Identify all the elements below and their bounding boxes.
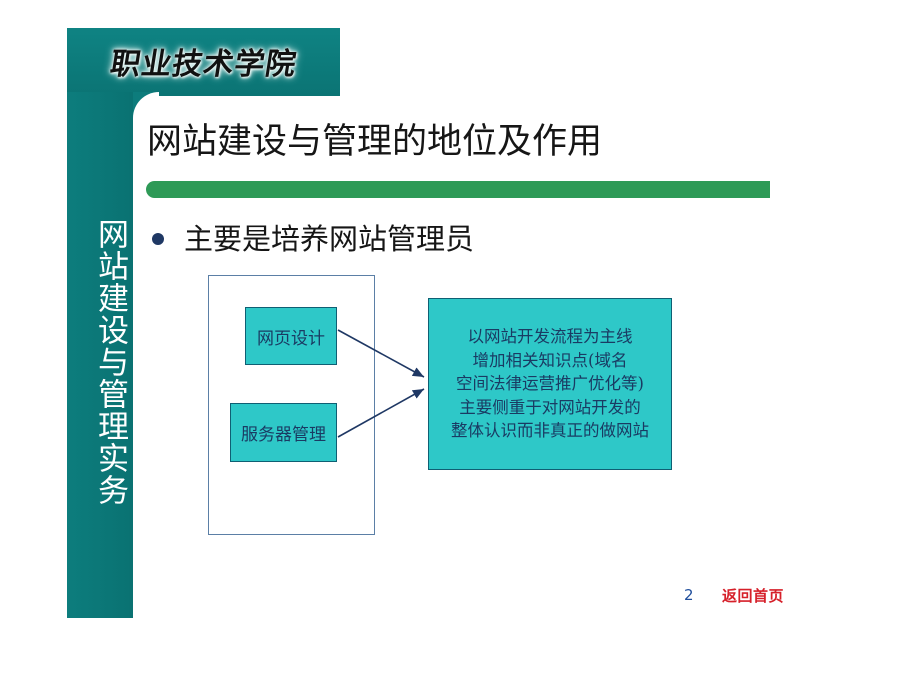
summary-line: 增加相关知识点(域名	[451, 349, 649, 372]
bullet-dot-icon	[152, 233, 164, 245]
sidebar-vertical-title: 网站建设与管理实务	[67, 112, 133, 612]
header-teal-band: 职业技术学院	[67, 28, 340, 96]
diagram-summary-box: 以网站开发流程为主线 增加相关知识点(域名 空间法律运营推广优化等) 主要侧重于…	[428, 298, 672, 470]
summary-line: 整体认识而非真正的做网站	[451, 419, 649, 442]
summary-line: 主要侧重于对网站开发的	[451, 396, 649, 419]
page-number: 2	[684, 586, 694, 604]
bullet-item-label: 主要是培养网站管理员	[184, 222, 474, 257]
page-title: 网站建设与管理的地位及作用	[147, 121, 787, 163]
summary-line: 以网站开发流程为主线	[451, 325, 649, 348]
summary-line: 空间法律运营推广优化等)	[451, 372, 649, 395]
slide-canvas: 职业技术学院 网站建设与管理实务 网站建设与管理的地位及作用 主要是培养网站管理…	[0, 0, 920, 690]
diagram-node-web-design: 网页设计	[245, 307, 337, 365]
diagram-node-server-admin: 服务器管理	[230, 403, 337, 462]
institution-logo-text: 职业技术学院	[75, 36, 333, 86]
bullet-item: 主要是培养网站管理员	[152, 222, 474, 257]
return-home-link[interactable]: 返回首页	[722, 585, 784, 606]
sidebar-corner-notch	[133, 92, 159, 118]
title-underline-bar	[146, 181, 770, 198]
